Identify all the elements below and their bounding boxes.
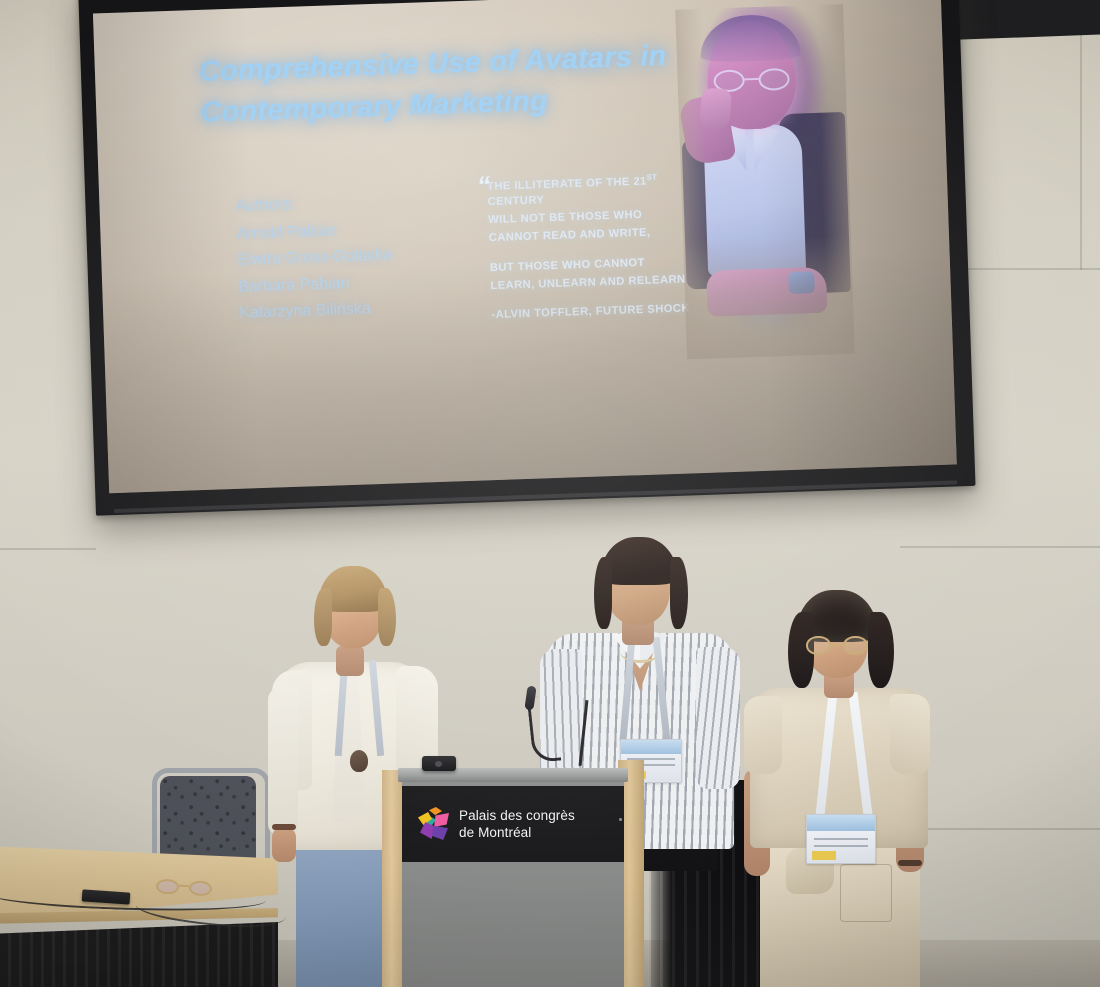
presentation-room-photo: Comprehensive Use of Avatars in Contempo… [0, 0, 1100, 987]
wall-vignette [0, 0, 1100, 987]
